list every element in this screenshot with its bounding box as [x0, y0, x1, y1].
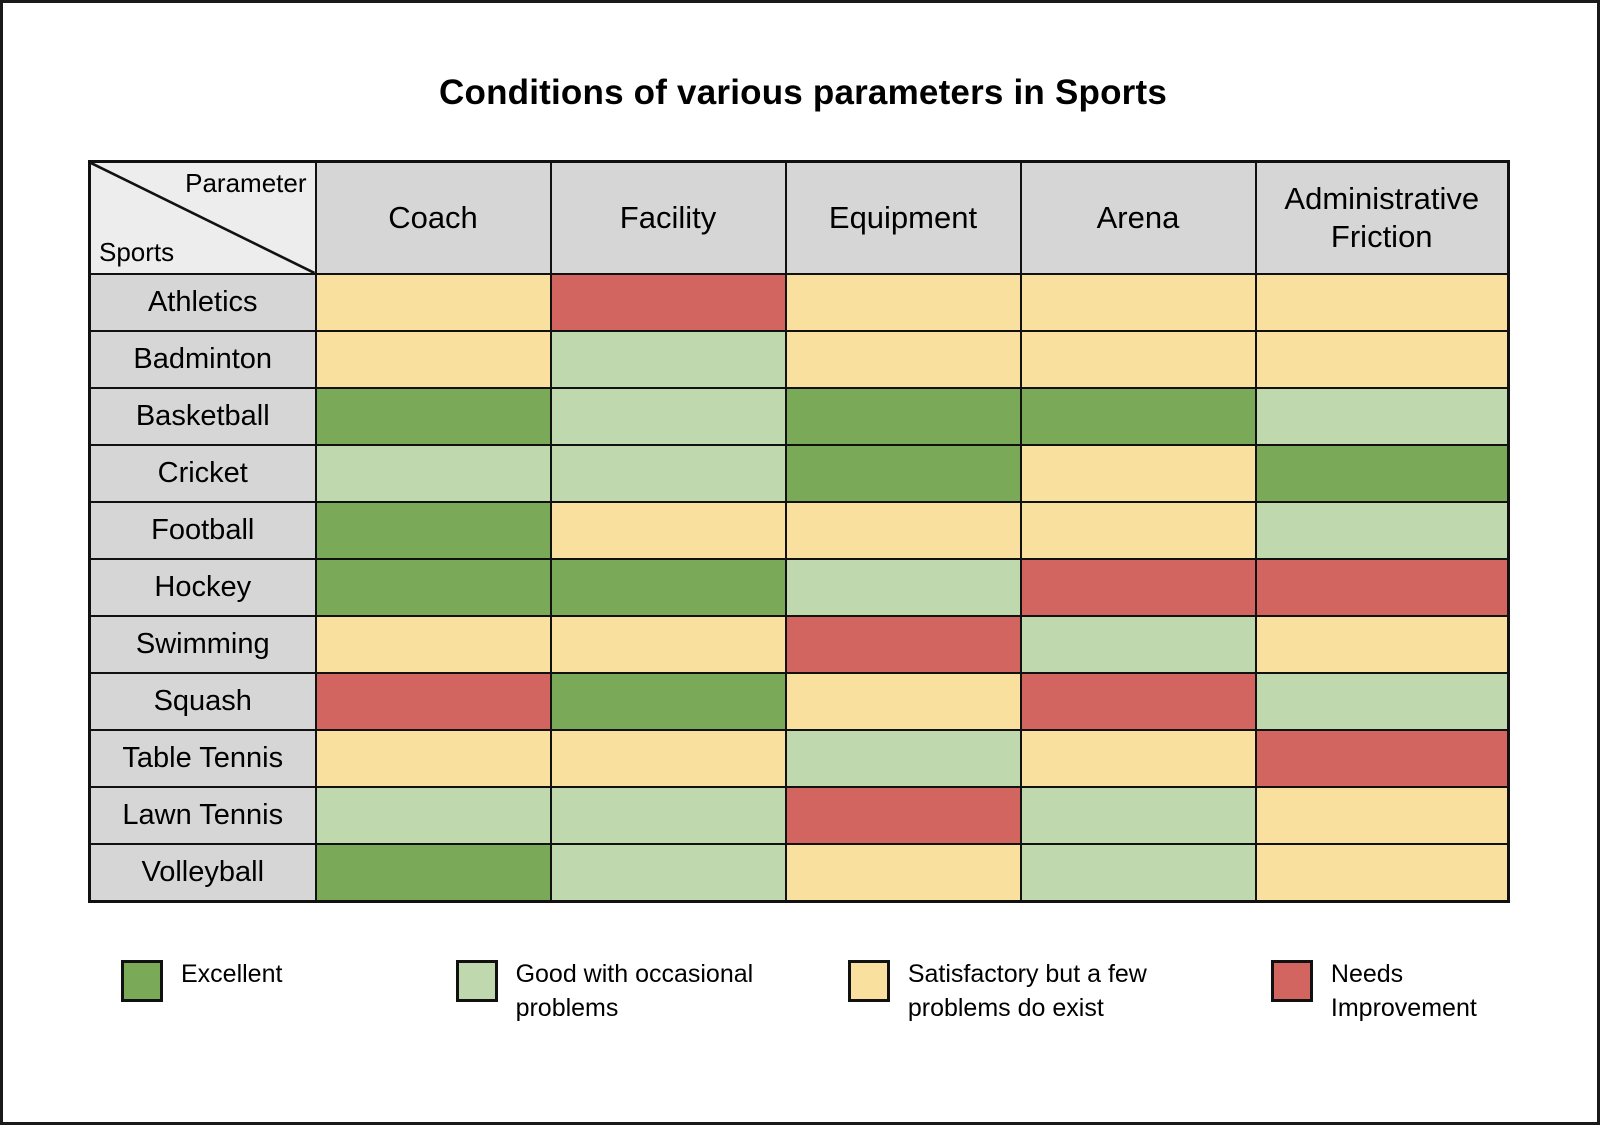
heatmap-cell[interactable] [316, 616, 551, 673]
column-header-arena: Arena [1021, 162, 1256, 275]
column-header-equipment: Equipment [786, 162, 1021, 275]
column-header-facility: Facility [551, 162, 786, 275]
heatmap-cell[interactable] [1021, 502, 1256, 559]
heatmap-cell[interactable] [316, 274, 551, 331]
table-row: Volleyball [90, 844, 1509, 902]
heatmap-cell[interactable] [1256, 502, 1509, 559]
row-header-hockey: Hockey [90, 559, 316, 616]
legend-swatch-needs-improvement [1271, 960, 1313, 1002]
legend-item: Satisfactory but a few problems do exist [848, 958, 1225, 1026]
heatmap-cell[interactable] [316, 388, 551, 445]
row-header-cricket: Cricket [90, 445, 316, 502]
heatmap-cell[interactable] [1021, 673, 1256, 730]
heatmap-cell[interactable] [786, 673, 1021, 730]
heatmap-cell[interactable] [1256, 274, 1509, 331]
heatmap-cell[interactable] [1021, 559, 1256, 616]
heatmap-cell[interactable] [551, 730, 786, 787]
row-header-squash: Squash [90, 673, 316, 730]
table-row: Football [90, 502, 1509, 559]
row-header-athletics: Athletics [90, 274, 316, 331]
heatmap-cell[interactable] [1256, 616, 1509, 673]
heatmap-cell[interactable] [316, 445, 551, 502]
legend-swatch-good [456, 960, 498, 1002]
row-header-football: Football [90, 502, 316, 559]
heatmap-cell[interactable] [1021, 730, 1256, 787]
heatmap-cell[interactable] [1256, 445, 1509, 502]
table-row: Squash [90, 673, 1509, 730]
heatmap-cell[interactable] [1256, 559, 1509, 616]
table-body: AthleticsBadmintonBasketballCricketFootb… [90, 274, 1509, 902]
column-header-administrative-friction: Administrative Friction [1256, 162, 1509, 275]
table-row: Cricket [90, 445, 1509, 502]
heatmap-cell[interactable] [551, 673, 786, 730]
heatmap-cell[interactable] [551, 559, 786, 616]
legend-label: Satisfactory but a few problems do exist [908, 958, 1225, 1026]
column-header-coach: Coach [316, 162, 551, 275]
heatmap-cell[interactable] [1256, 388, 1509, 445]
heatmap-cell[interactable] [1256, 730, 1509, 787]
heatmap-cell[interactable] [786, 388, 1021, 445]
table-row: Badminton [90, 331, 1509, 388]
heatmap-cell[interactable] [316, 787, 551, 844]
corner-axis-header: Parameter Sports [90, 162, 316, 275]
legend-item: Needs Improvement [1271, 958, 1521, 1026]
table-row: Table Tennis [90, 730, 1509, 787]
heatmap-cell[interactable] [1256, 844, 1509, 902]
heatmap-cell[interactable] [1021, 787, 1256, 844]
heatmap-cell[interactable] [1256, 331, 1509, 388]
heatmap-cell[interactable] [786, 559, 1021, 616]
conditions-table: Parameter Sports Coach Facility Equipmen… [88, 160, 1510, 903]
heatmap-matrix: Parameter Sports Coach Facility Equipmen… [88, 160, 1493, 903]
legend-label: Good with occasional problems [516, 958, 802, 1026]
heatmap-cell[interactable] [551, 616, 786, 673]
heatmap-cell[interactable] [551, 502, 786, 559]
heatmap-cell[interactable] [1021, 616, 1256, 673]
heatmap-cell[interactable] [1021, 445, 1256, 502]
row-header-volleyball: Volleyball [90, 844, 316, 902]
table-row: Athletics [90, 274, 1509, 331]
legend-item: Excellent [121, 958, 410, 1002]
heatmap-cell[interactable] [316, 559, 551, 616]
heatmap-cell[interactable] [316, 730, 551, 787]
table-row: Swimming [90, 616, 1509, 673]
heatmap-cell[interactable] [1021, 274, 1256, 331]
heatmap-cell[interactable] [316, 331, 551, 388]
heatmap-cell[interactable] [786, 730, 1021, 787]
heatmap-cell[interactable] [551, 844, 786, 902]
heatmap-cell[interactable] [1021, 844, 1256, 902]
table-row: Hockey [90, 559, 1509, 616]
heatmap-cell[interactable] [316, 844, 551, 902]
corner-parameter-label: Parameter [185, 169, 306, 198]
table-header: Parameter Sports Coach Facility Equipmen… [90, 162, 1509, 275]
legend-item: Good with occasional problems [456, 958, 802, 1026]
heatmap-cell[interactable] [1021, 331, 1256, 388]
heatmap-cell[interactable] [786, 502, 1021, 559]
heatmap-cell[interactable] [551, 445, 786, 502]
corner-sports-label: Sports [99, 238, 174, 267]
table-row: Basketball [90, 388, 1509, 445]
heatmap-cell[interactable] [551, 274, 786, 331]
row-header-table-tennis: Table Tennis [90, 730, 316, 787]
heatmap-cell[interactable] [316, 673, 551, 730]
heatmap-cell[interactable] [1256, 787, 1509, 844]
row-header-swimming: Swimming [90, 616, 316, 673]
legend-swatch-excellent [121, 960, 163, 1002]
heatmap-cell[interactable] [316, 502, 551, 559]
heatmap-cell[interactable] [551, 388, 786, 445]
legend-label: Needs Improvement [1331, 958, 1521, 1026]
header-row: Parameter Sports Coach Facility Equipmen… [90, 162, 1509, 275]
legend-swatch-satisfactory [848, 960, 890, 1002]
row-header-badminton: Badminton [90, 331, 316, 388]
chart-canvas: Conditions of various parameters in Spor… [0, 0, 1600, 1125]
heatmap-cell[interactable] [786, 616, 1021, 673]
row-header-lawn-tennis: Lawn Tennis [90, 787, 316, 844]
heatmap-cell[interactable] [1021, 388, 1256, 445]
heatmap-cell[interactable] [551, 331, 786, 388]
heatmap-cell[interactable] [786, 445, 1021, 502]
page-title: Conditions of various parameters in Spor… [3, 73, 1600, 113]
heatmap-cell[interactable] [551, 787, 786, 844]
row-header-basketball: Basketball [90, 388, 316, 445]
heatmap-cell[interactable] [786, 787, 1021, 844]
heatmap-cell[interactable] [786, 844, 1021, 902]
table-row: Lawn Tennis [90, 787, 1509, 844]
legend-label: Excellent [181, 958, 282, 992]
heatmap-cell[interactable] [786, 331, 1021, 388]
heatmap-cell[interactable] [1256, 673, 1509, 730]
legend: ExcellentGood with occasional problemsSa… [121, 958, 1521, 1026]
heatmap-cell[interactable] [786, 274, 1021, 331]
